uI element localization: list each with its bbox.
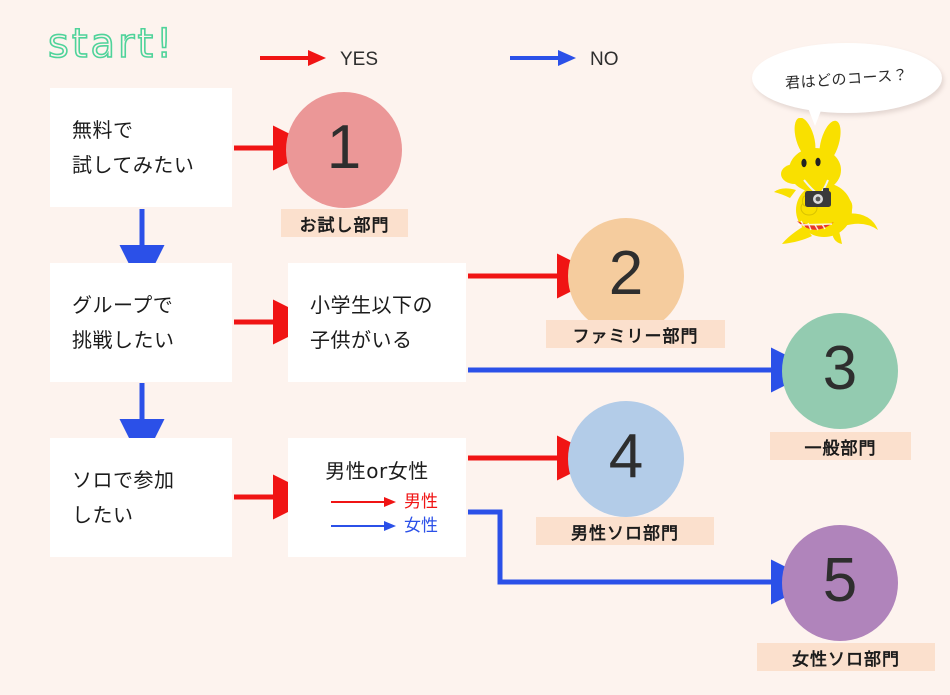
female-label: 女性 bbox=[404, 518, 438, 535]
male-label: 男性 bbox=[404, 494, 438, 511]
male-arrow-icon bbox=[330, 495, 402, 509]
question-line: 挑戦したい bbox=[72, 323, 232, 358]
question-line: 子供がいる bbox=[310, 323, 466, 358]
gender-legend-female: 女性 bbox=[330, 515, 438, 537]
flowchart-canvas: start! YES NO bbox=[0, 0, 950, 695]
result-number: 3 bbox=[823, 338, 857, 400]
gender-legend: 男性 女性 bbox=[316, 491, 438, 537]
legend-yes: YES bbox=[258, 48, 408, 72]
question-box-children[interactable]: 小学生以下の 子供がいる bbox=[288, 263, 466, 382]
result-circle-4[interactable]: 4 bbox=[568, 401, 684, 517]
question-line: 男性or女性 bbox=[325, 454, 428, 489]
question-line: 無料で bbox=[72, 113, 232, 148]
result-number: 5 bbox=[823, 550, 857, 612]
female-arrow-icon bbox=[330, 519, 402, 533]
kangaroo-mascot bbox=[752, 118, 882, 246]
question-box-free-trial[interactable]: 無料で 試してみたい bbox=[50, 88, 232, 207]
result-number: 4 bbox=[609, 426, 643, 488]
legend-no-label: NO bbox=[590, 49, 619, 70]
gender-legend-male: 男性 bbox=[330, 491, 438, 513]
page-title: start! bbox=[48, 24, 175, 64]
result-number: 1 bbox=[327, 117, 361, 179]
legend-no-arrow-icon: NO bbox=[508, 48, 658, 72]
result-circle-2[interactable]: 2 bbox=[568, 218, 684, 334]
question-line: 試してみたい bbox=[72, 148, 232, 183]
result-label-2: ファミリー部門 bbox=[546, 320, 725, 348]
legend-no: NO bbox=[508, 48, 658, 72]
result-label-1: お試し部門 bbox=[281, 209, 408, 237]
legend-yes-label: YES bbox=[340, 49, 378, 70]
result-circle-5[interactable]: 5 bbox=[782, 525, 898, 641]
question-line: したい bbox=[72, 498, 232, 533]
result-label-3: 一般部門 bbox=[770, 432, 911, 460]
question-box-group[interactable]: グループで 挑戦したい bbox=[50, 263, 232, 382]
result-circle-3[interactable]: 3 bbox=[782, 313, 898, 429]
question-line: グループで bbox=[72, 288, 232, 323]
question-line: ソロで参加 bbox=[72, 463, 232, 498]
mascot-speech-bubble: 君はどのコース？ bbox=[752, 43, 942, 113]
question-line: 小学生以下の bbox=[310, 288, 466, 323]
mascot-speech-text: 君はどのコース？ bbox=[785, 63, 909, 93]
result-number: 2 bbox=[609, 243, 643, 305]
result-circle-1[interactable]: 1 bbox=[286, 92, 402, 208]
legend-yes-arrow-icon: YES bbox=[258, 48, 408, 72]
result-label-4: 男性ソロ部門 bbox=[536, 517, 714, 545]
question-box-solo[interactable]: ソロで参加 したい bbox=[50, 438, 232, 557]
question-box-gender[interactable]: 男性or女性 男性 女性 bbox=[288, 438, 466, 557]
result-label-5: 女性ソロ部門 bbox=[757, 643, 935, 671]
